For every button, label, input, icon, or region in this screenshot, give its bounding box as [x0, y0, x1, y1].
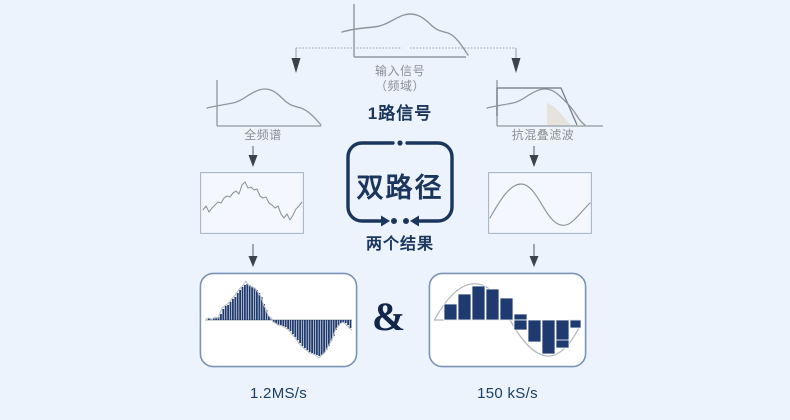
full-spectrum-label: 全频谱	[208, 128, 318, 143]
bracket-top-dot	[397, 140, 402, 145]
ampersand-separator: &	[372, 297, 405, 337]
trace-box-border	[489, 173, 592, 234]
right-branch-arrow-2	[527, 244, 541, 268]
two-results-caption: 两个结果	[340, 230, 460, 254]
spectrum-curve	[207, 89, 321, 125]
anti-alias-filter-chart	[485, 78, 605, 134]
low-rate-result-box[interactable]	[428, 272, 587, 368]
bracket-arrow-left-icon	[381, 216, 390, 227]
bracket-bottom-dot-left	[391, 218, 397, 224]
high-rate-result-box[interactable]	[199, 272, 358, 368]
filter-rolloff-shade	[547, 103, 571, 125]
right-branch-arrow-1	[527, 146, 541, 168]
high-rate-label: 1.2MS/s	[199, 385, 358, 402]
trace-box-border	[201, 173, 304, 234]
arrow-head-icon	[530, 155, 539, 167]
fanout-connector	[290, 40, 522, 76]
spectrum-curve	[487, 89, 585, 125]
right-arrow-icon	[512, 58, 521, 73]
arrow-head-icon	[249, 155, 258, 167]
dual-path-title: 双路径	[345, 166, 455, 205]
arrow-head-icon	[530, 256, 539, 267]
left-branch-arrow-1	[246, 146, 260, 168]
anti-alias-filter-label: 抗混叠滤波	[488, 128, 598, 143]
diagram-canvas: 输入信号 （频域） 1路信号 全频谱	[0, 0, 790, 420]
full-spectrum-chart	[205, 78, 323, 134]
left-branch-arrow-2	[246, 244, 260, 268]
one-signal-headline: 1路信号	[340, 99, 460, 124]
input-signal-label-line2: （频域）	[350, 79, 450, 94]
filtered-sine-box	[488, 172, 592, 234]
left-arrow-icon	[292, 58, 301, 73]
low-rate-label: 150 kS/s	[428, 385, 587, 402]
bracket-arrow-right-icon	[410, 216, 419, 227]
full-spectrum-trace-box	[200, 172, 304, 234]
arrow-head-icon	[249, 256, 258, 267]
bracket-bottom-dot-right	[403, 218, 409, 224]
